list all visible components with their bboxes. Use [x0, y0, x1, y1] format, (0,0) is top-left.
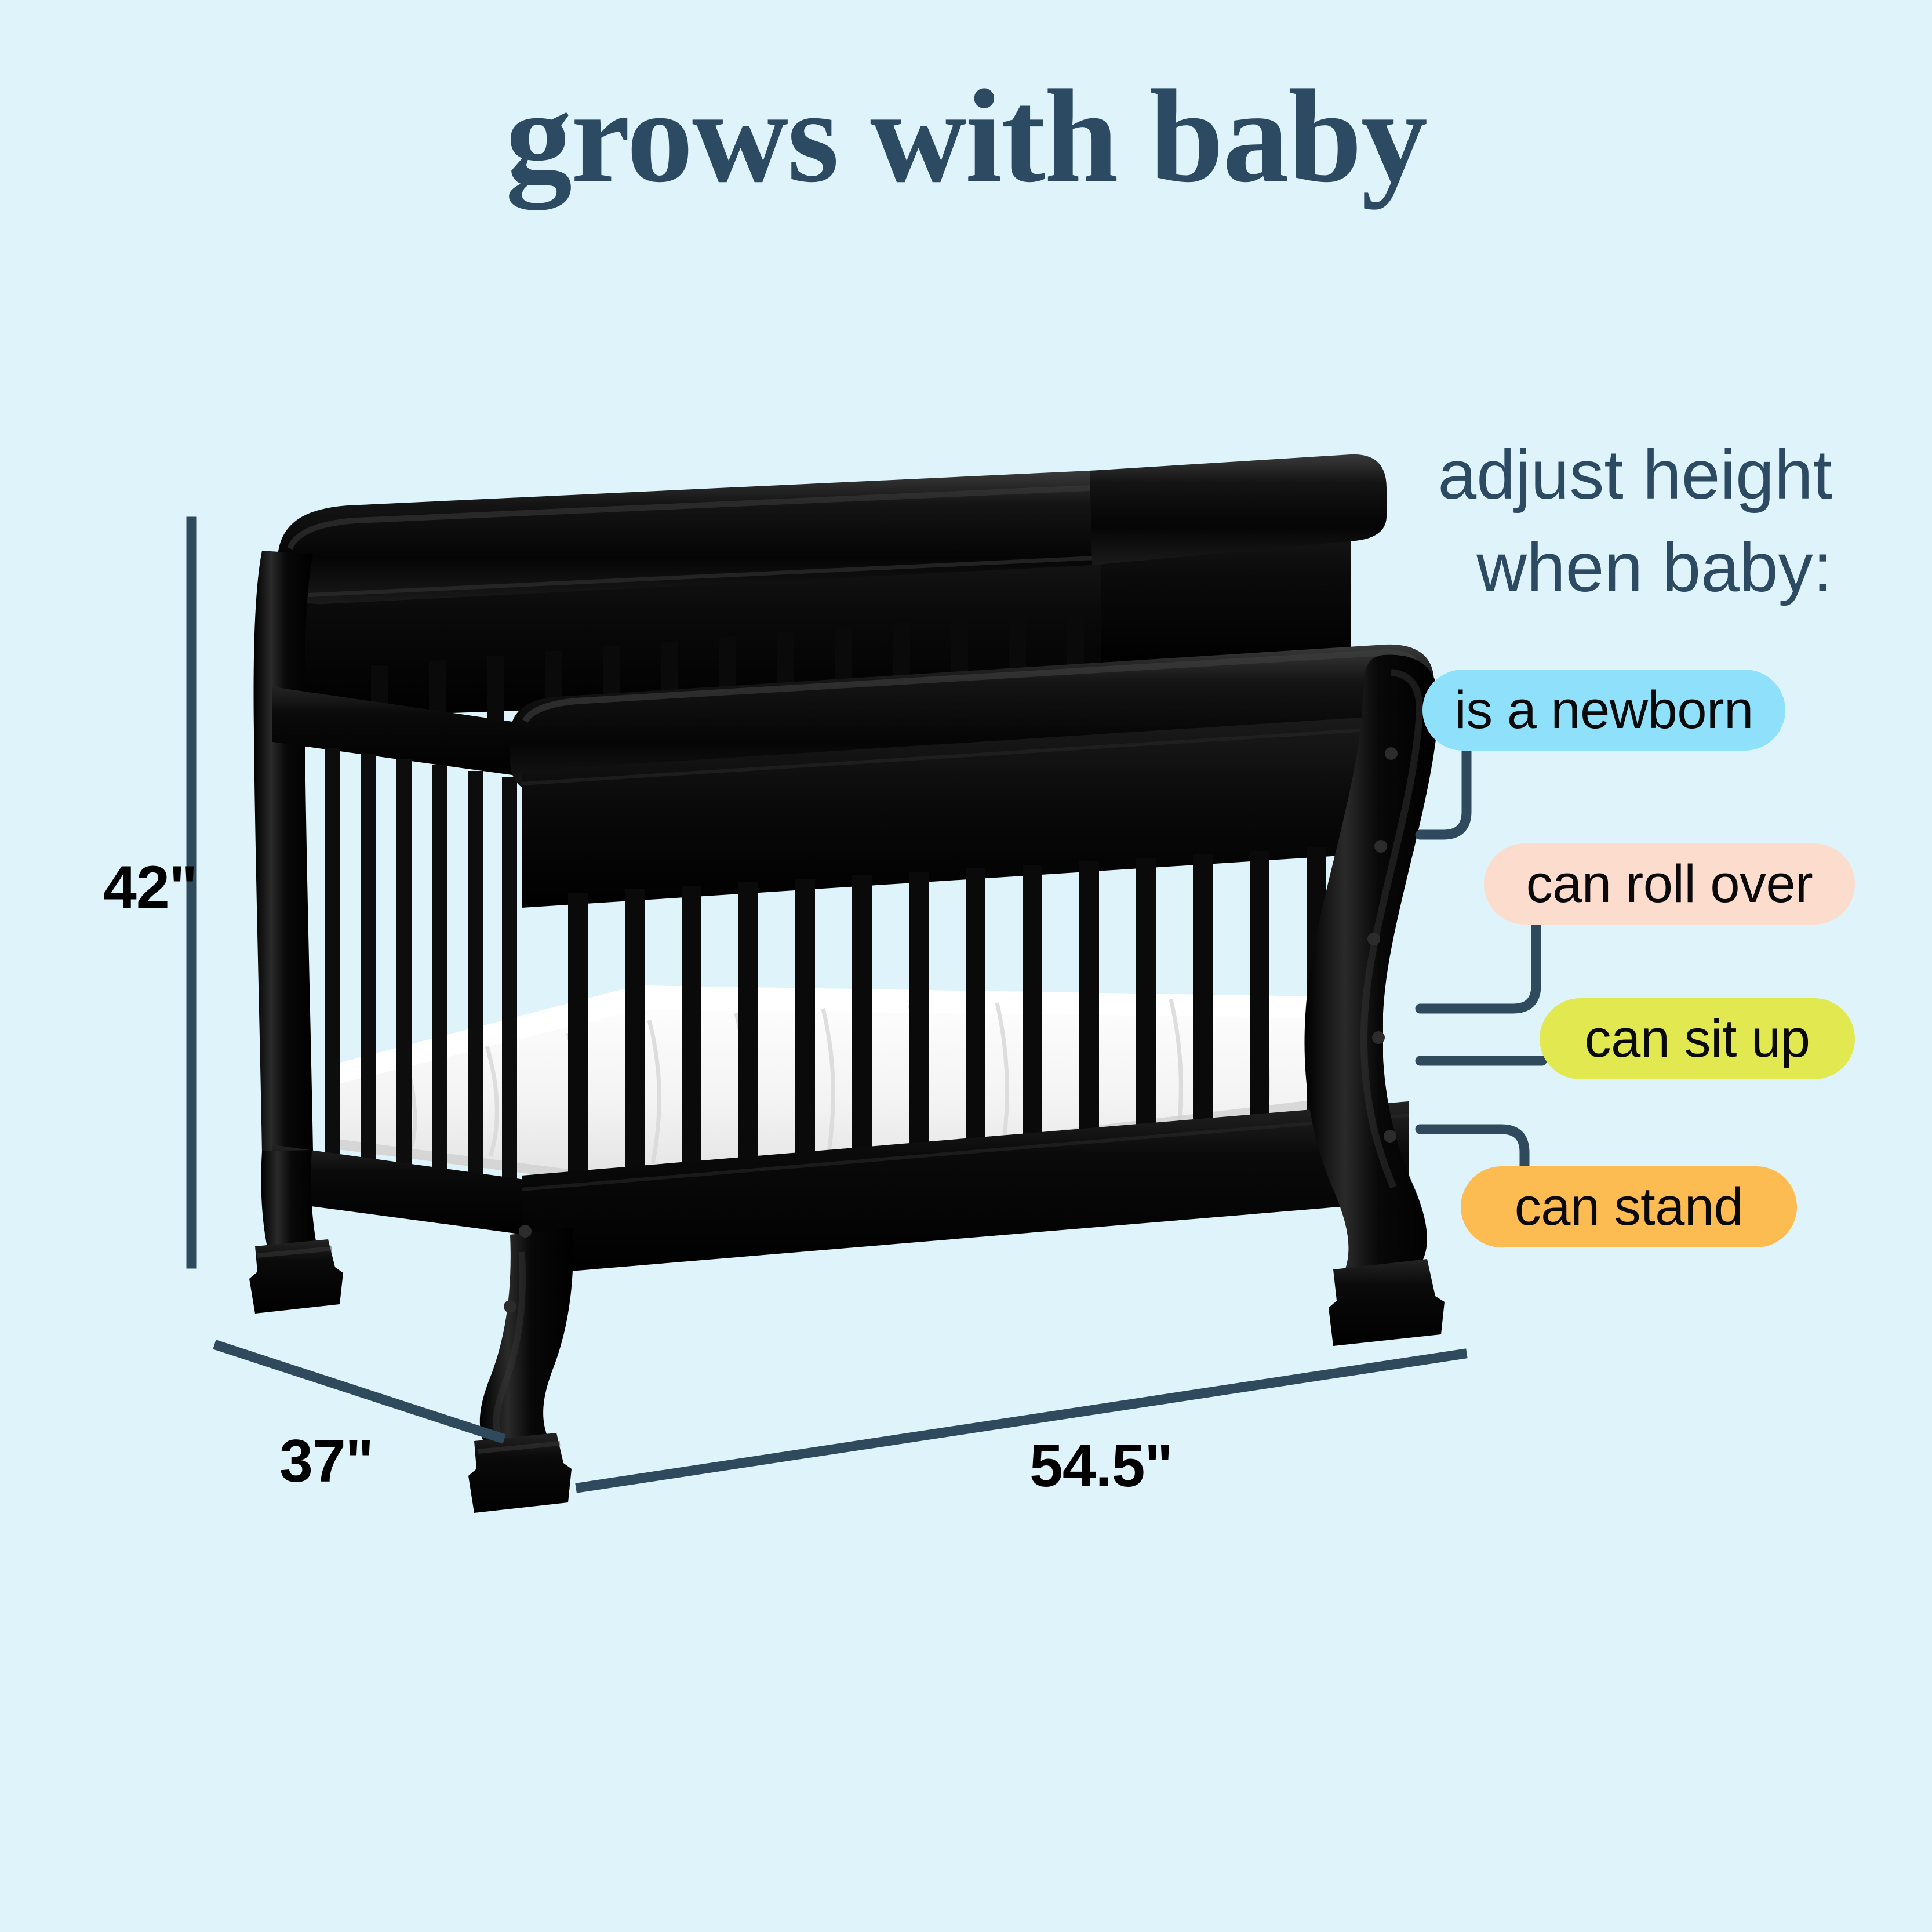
depth-dimension-line [219, 1346, 500, 1438]
milestone-pill-label: can stand [1515, 1177, 1743, 1238]
infographic-canvas: grows with baby adjust height when baby: [0, 0, 1932, 1932]
crib-illustration [0, 0, 1932, 1932]
height-dimension-label: 42" [103, 853, 197, 922]
height-connector-lines [1420, 748, 1542, 1194]
width-dimension-label: 54.5" [1029, 1432, 1173, 1501]
milestone-pill-sit-up[interactable]: can sit up [1540, 998, 1855, 1079]
milestone-pill-newborn[interactable]: is a newborn [1422, 670, 1785, 751]
depth-dimension-label: 37" [279, 1427, 373, 1496]
milestone-pill-label: can sit up [1585, 1009, 1810, 1069]
milestone-pill-label: can roll over [1526, 854, 1813, 915]
milestone-pill-stand[interactable]: can stand [1461, 1166, 1797, 1247]
milestone-pill-label: is a newborn [1454, 680, 1753, 741]
connector-roll-over [1420, 922, 1536, 1009]
milestone-pill-roll-over[interactable]: can roll over [1484, 843, 1855, 925]
width-dimension-line [581, 1354, 1462, 1487]
